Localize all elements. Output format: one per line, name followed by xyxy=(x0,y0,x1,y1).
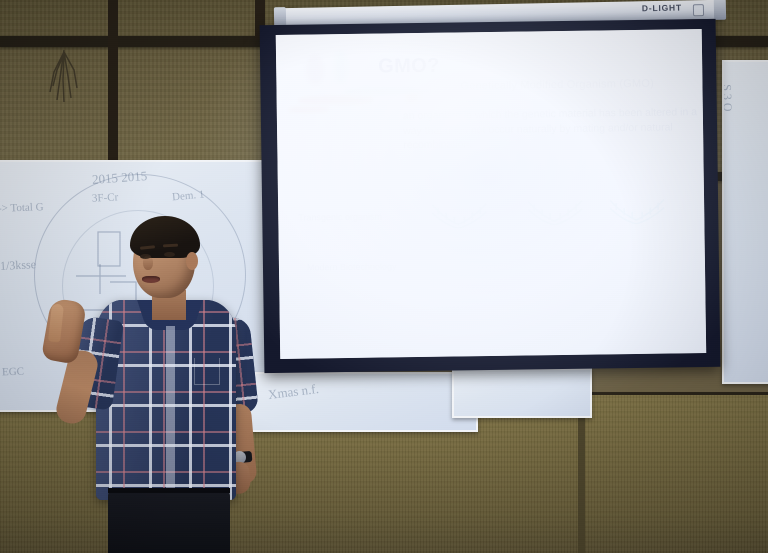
projector-brand-label: D-LIGHT xyxy=(642,3,682,14)
presenter-eye-right xyxy=(164,252,175,257)
slide-title: GMO? xyxy=(378,55,440,79)
presenter-nose xyxy=(143,255,153,270)
projection-screen-frame: GMO? Genetically Modified Organism (GMO)… xyxy=(260,19,721,373)
dna-helix-icon xyxy=(430,202,488,229)
whiteboard-note: 1/3ksse xyxy=(0,257,36,274)
roller-knob-icon xyxy=(693,4,704,16)
slide-heading: Genetically Modified Organism (GMO) xyxy=(460,78,654,93)
dna-helix-icon xyxy=(608,198,666,225)
slide-sub-point-1: Transgenic organism xyxy=(298,212,382,223)
whiteboard-lower-center: Xmas n.f. xyxy=(246,372,478,432)
presenter-ear xyxy=(186,252,198,270)
whiteboard-lower-right xyxy=(452,368,592,418)
slide-decoration-stroke xyxy=(299,96,373,105)
classroom-photo-scene: 2015 2015 3F-Cr Dem. 1 -> Total G 1/3kss… xyxy=(0,0,768,553)
presenter-belt xyxy=(108,488,230,493)
slide-decoration-blob xyxy=(306,54,324,84)
whiteboard-note: Xmas n.f. xyxy=(267,381,319,403)
shirt-pocket xyxy=(194,358,220,385)
whiteboard-note: 3F-Cr xyxy=(92,191,119,204)
lower-wall-divider xyxy=(578,395,585,553)
slide-sub-point-2: Modern Biotechnology xyxy=(307,261,397,272)
presenter-mouth xyxy=(142,276,160,283)
roller-endcap-right xyxy=(714,0,726,20)
slide-decoration-blob xyxy=(405,93,421,103)
slide-decoration-stroke xyxy=(289,106,329,113)
whiteboard-far-right: S 3 O xyxy=(722,60,768,384)
projection-screen-surface[interactable]: GMO? Genetically Modified Organism (GMO)… xyxy=(276,29,706,359)
slide-body-text: an organism in which the genetic materia… xyxy=(403,105,704,153)
whiteboard-note: S 3 O xyxy=(722,84,735,112)
whiteboard-note: -> Total G xyxy=(0,201,44,215)
wall-beam-vertical-left xyxy=(108,0,118,182)
dna-helix-icon xyxy=(526,199,584,226)
hanging-plant-icon xyxy=(44,48,84,108)
shirt-placket xyxy=(166,326,175,500)
presenter-trousers xyxy=(108,488,230,553)
slide-decoration-blob xyxy=(334,50,348,84)
presentation-slide: GMO? Genetically Modified Organism (GMO)… xyxy=(276,29,706,359)
whiteboard-note: EGC xyxy=(2,366,24,379)
